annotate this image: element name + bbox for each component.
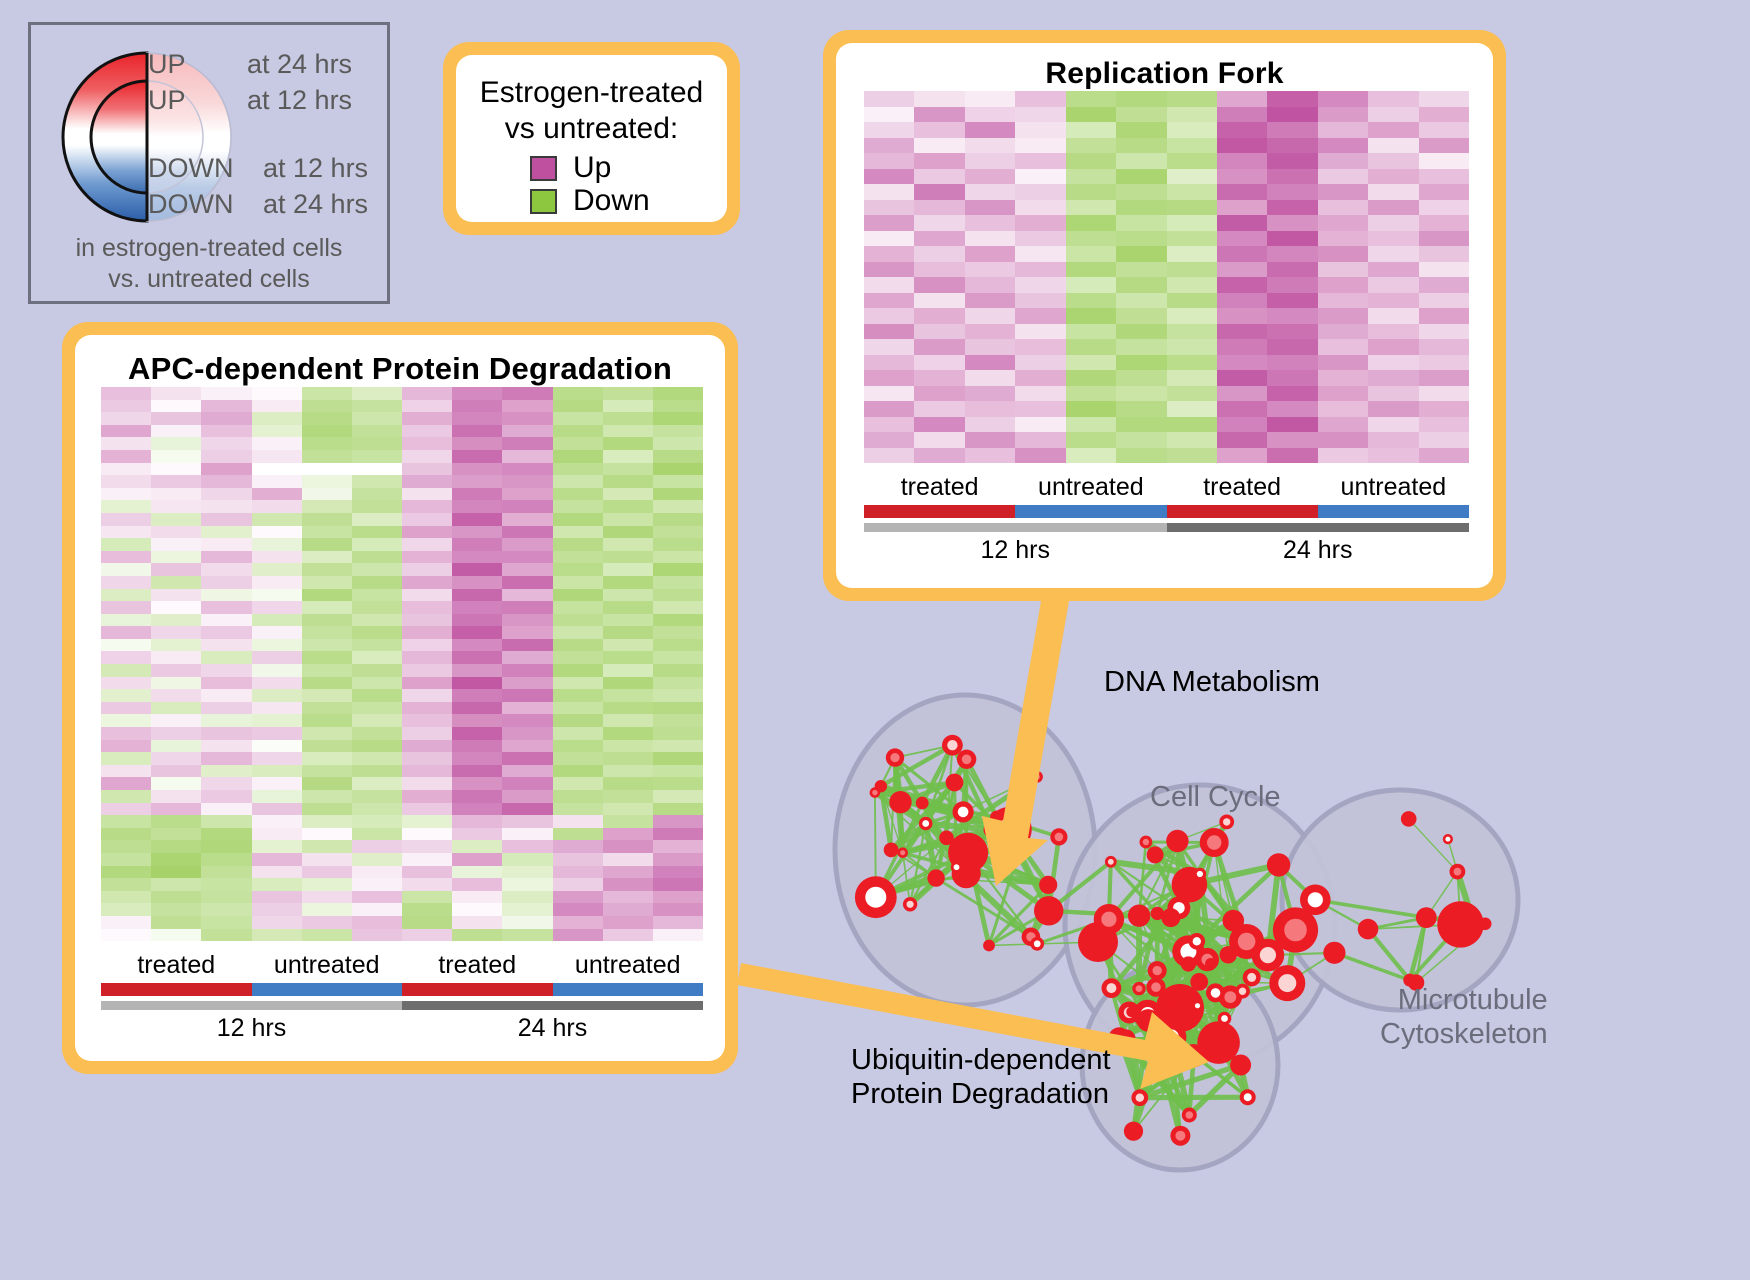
network-label-ubiquitin-degradation: Ubiquitin-dependent Protein Degradation	[851, 1043, 1111, 1111]
replication-fork-arrow-icon	[982, 601, 1069, 886]
network-label-cell-cycle: Cell Cycle	[1150, 780, 1281, 814]
network-label-microtubule-cytoskeleton: Microtubule Cytoskeleton	[1380, 983, 1548, 1051]
network-label-dna-metabolism: DNA Metabolism	[1104, 665, 1320, 699]
